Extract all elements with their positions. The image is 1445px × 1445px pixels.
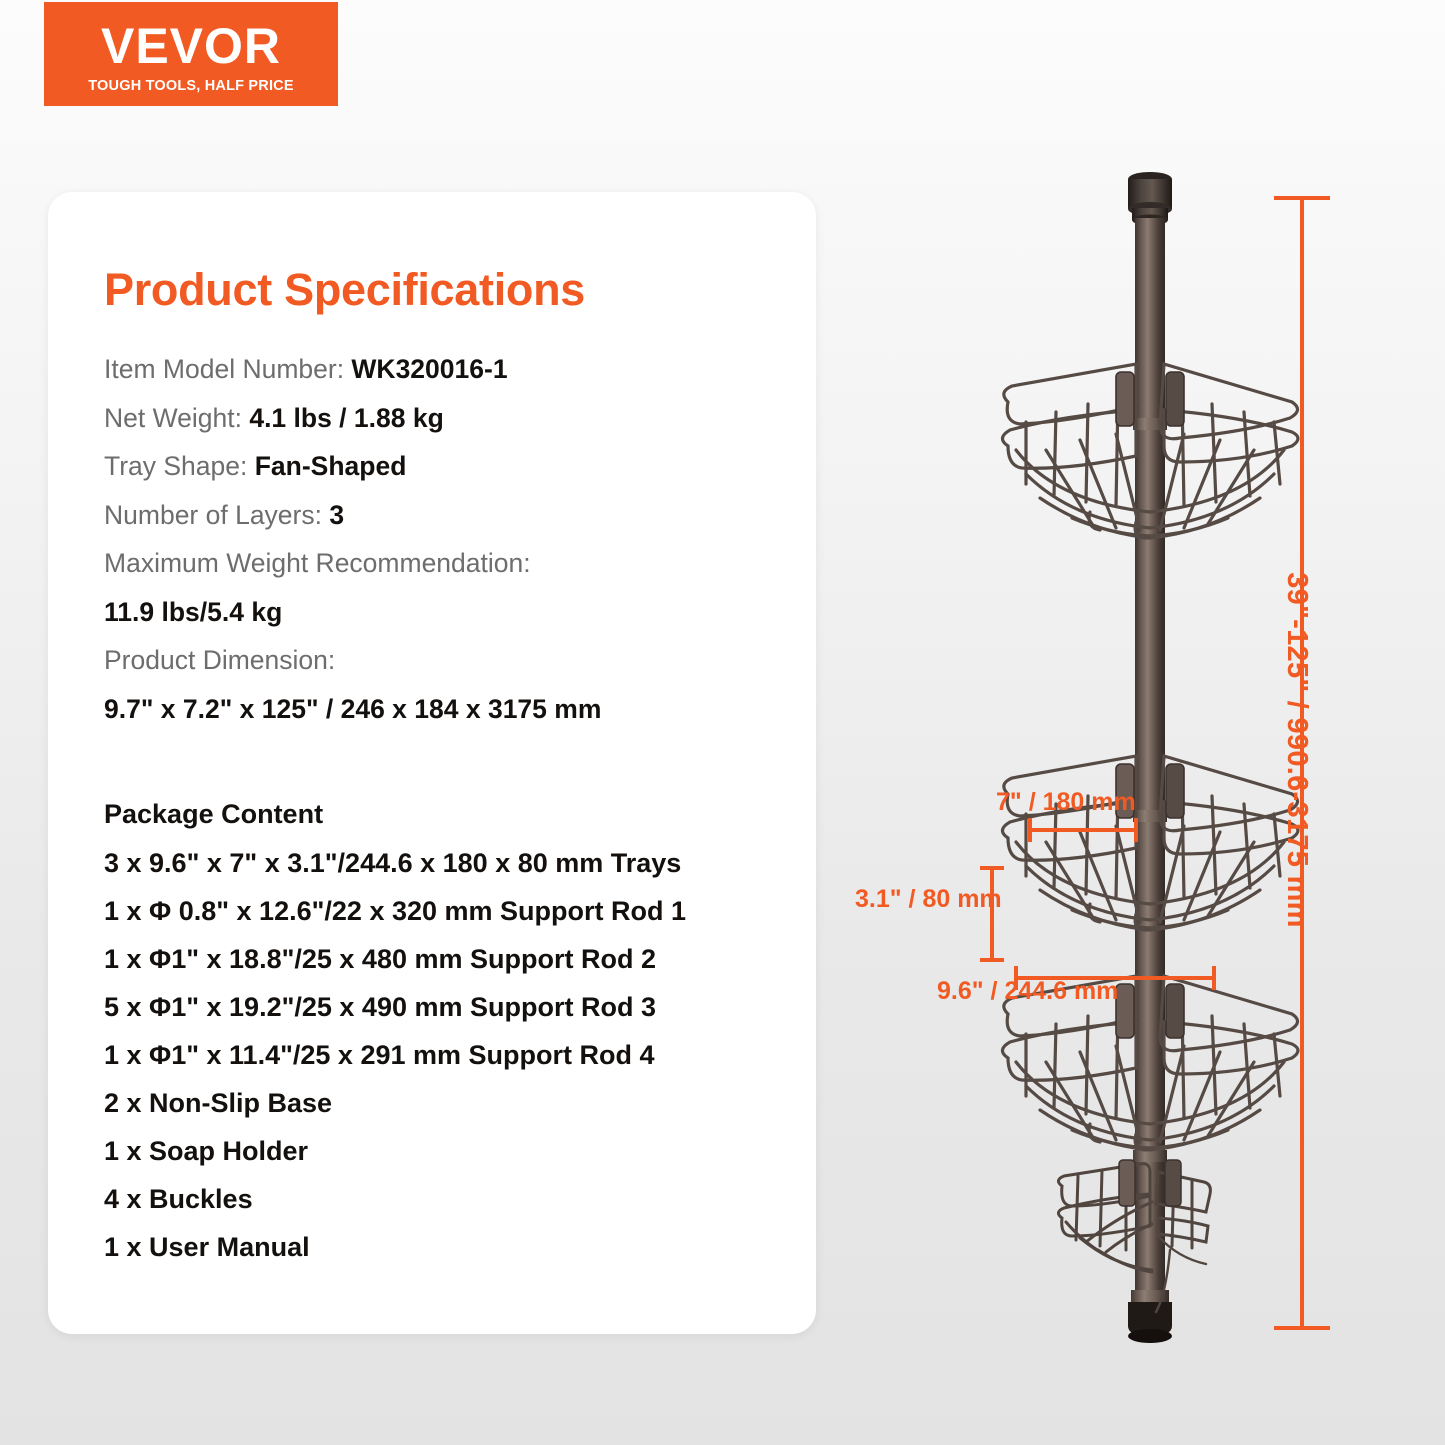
list-item: 3 x 9.6" x 7" x 3.1"/244.6 x 180 x 80 mm… — [104, 839, 804, 887]
spec-row-dimension-value: 9.7" x 7.2" x 125" / 246 x 184 x 3175 mm — [104, 685, 794, 734]
spec-label: Item Model Number: — [104, 354, 351, 384]
spec-row-dimension-label: Product Dimension: — [104, 636, 794, 685]
spec-row-model: Item Model Number: WK320016-1 — [104, 345, 794, 394]
page-title: Product Specifications — [104, 264, 585, 316]
list-item: 1 x User Manual — [104, 1223, 804, 1271]
vevor-logo: VEVOR TOUGH TOOLS, HALF PRICE — [44, 2, 338, 106]
specification-list: Item Model Number: WK320016-1 Net Weight… — [104, 345, 794, 733]
spec-row-tray-shape: Tray Shape: Fan-Shaped — [104, 442, 794, 491]
product-illustration — [840, 150, 1420, 1380]
spec-row-max-weight-value: 11.9 lbs/5.4 kg — [104, 588, 794, 637]
dimension-label-tray-height: 3.1" / 80 mm — [855, 885, 1002, 914]
brand-wordmark: VEVOR — [101, 21, 281, 71]
list-item: 1 x Φ1" x 18.8"/25 x 480 mm Support Rod … — [104, 935, 804, 983]
spec-value: 3 — [329, 500, 344, 530]
dimension-line-tray-height — [980, 868, 1004, 960]
list-item: 5 x Φ1" x 19.2"/25 x 490 mm Support Rod … — [104, 983, 804, 1031]
dimension-label-total-height: 39"-125" / 990.6-3175 mm — [1280, 540, 1313, 960]
list-item: 2 x Non-Slip Base — [104, 1079, 804, 1127]
spec-label: Number of Layers: — [104, 500, 329, 530]
spec-value: Fan-Shaped — [255, 451, 407, 481]
product-specifications-card: Product Specifications Item Model Number… — [48, 192, 816, 1334]
list-item: 1 x Φ1" x 11.4"/25 x 291 mm Support Rod … — [104, 1031, 804, 1079]
package-content-heading: Package Content — [104, 790, 804, 839]
spec-label: Product Dimension: — [104, 645, 335, 675]
brand-tagline: TOUGH TOOLS, HALF PRICE — [88, 78, 293, 94]
list-item: 4 x Buckles — [104, 1175, 804, 1223]
spec-value: WK320016-1 — [351, 354, 507, 384]
spec-row-layers: Number of Layers: 3 — [104, 491, 794, 540]
shower-caddy-diagram — [840, 150, 1420, 1380]
spec-row-max-weight-label: Maximum Weight Recommendation: — [104, 539, 794, 588]
dimension-label-tray-bottom-width: 9.6" / 244.6 mm — [937, 977, 1118, 1006]
package-content-block: Package Content 3 x 9.6" x 7" x 3.1"/244… — [104, 790, 804, 1271]
spec-row-net-weight: Net Weight: 4.1 lbs / 1.88 kg — [104, 394, 794, 443]
spec-value: 4.1 lbs / 1.88 kg — [249, 403, 443, 433]
list-item: 1 x Φ 0.8" x 12.6"/22 x 320 mm Support R… — [104, 887, 804, 935]
dimension-label-tray-top-width: 7" / 180 mm — [996, 788, 1136, 817]
spec-label: Maximum Weight Recommendation: — [104, 548, 531, 578]
spec-label: Tray Shape: — [104, 451, 255, 481]
list-item: 1 x Soap Holder — [104, 1127, 804, 1175]
spec-label: Net Weight: — [104, 403, 249, 433]
